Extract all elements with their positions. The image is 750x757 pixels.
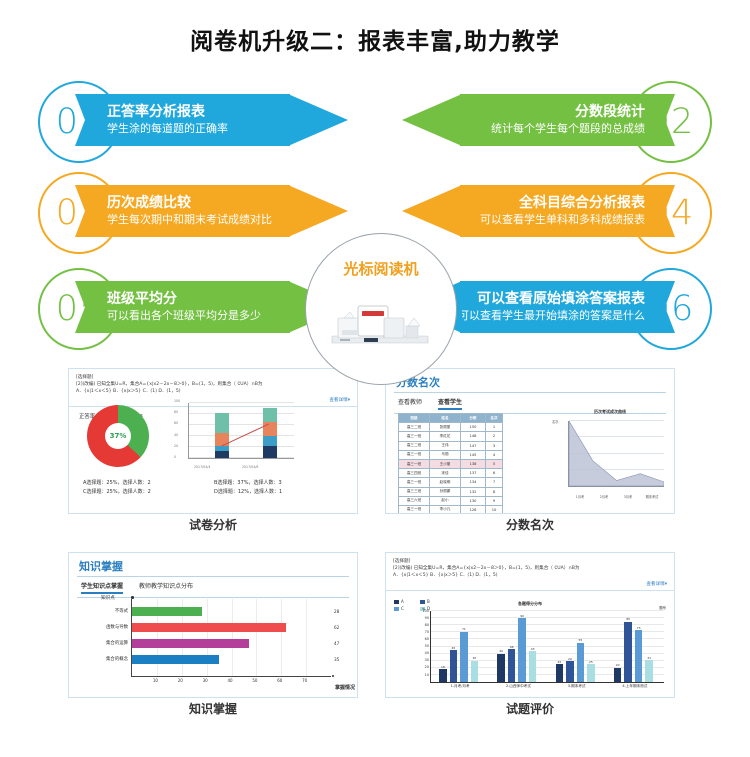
x-tick-label: 70: [302, 678, 307, 683]
table-cell: 赵晓明: [430, 478, 461, 487]
curve-chart-title: 历次考试成次曲线: [552, 409, 668, 415]
bar-value-label: 25: [558, 660, 562, 664]
score-rank-curve: 历次考试成次曲线 1月考2月考3月考期末考试名次: [552, 409, 668, 501]
mini-chart-axes: [188, 403, 294, 459]
table-cell: 高三六班: [399, 496, 430, 505]
y-tick-label: 20: [174, 444, 178, 448]
bar-value-label: 29: [568, 657, 572, 661]
table-cell: 2: [486, 432, 503, 441]
table-cell: 7: [486, 478, 503, 487]
item-arrow-02: [402, 94, 462, 146]
table-cell: 147: [461, 441, 486, 450]
bar: 73: [635, 630, 643, 682]
item-subtitle-06: 可以查看学生最开始填涂的答案是什么: [458, 309, 645, 322]
bar: 20: [614, 668, 622, 682]
table-cell: 10: [486, 505, 503, 514]
y-tick-label: 70: [425, 631, 429, 634]
table-cell: 高三一班: [399, 450, 430, 459]
panel-caption-paper-analysis: 试卷分析: [68, 516, 358, 533]
table-cell: 高三一班: [399, 478, 430, 487]
bar-value-label: 62: [334, 623, 339, 632]
x-tick-label: 3.期末考试: [568, 684, 586, 689]
option-c-stat: C选择题：25%，选择人数：2: [83, 488, 214, 497]
tab-view-student[interactable]: 查看学生: [438, 397, 462, 410]
y-tick-label: 60: [174, 421, 178, 425]
table-cell: 李红花: [430, 432, 461, 441]
panel-caption-score-rank: 分数名次: [385, 516, 675, 533]
item-title-04: 全科目综合分析报表: [480, 195, 645, 211]
tab-view-teacher[interactable]: 查看教师: [398, 397, 422, 410]
table-cell: 9: [486, 496, 503, 505]
question-line-2: A．{x|1＜x＜5} B．{x|x＞5} C．(1) D．(1，5): [76, 388, 350, 395]
bar-row: 不等式28: [132, 607, 331, 616]
y-tick-label: 30: [425, 659, 429, 662]
bar: 43: [529, 651, 537, 682]
bar: 71: [460, 632, 468, 682]
x-tick-label: 30: [203, 678, 208, 683]
bar: 30: [471, 661, 479, 682]
score-rank-title: 分数名次: [386, 369, 674, 392]
item-arrow-01: [288, 94, 348, 146]
correct-rate-donut: 37%: [87, 405, 149, 467]
panel-caption-knowledge: 知识掌握: [68, 700, 358, 717]
bar-value-label: 40: [499, 649, 503, 653]
table-row[interactable]: 高三一班李小凡12810: [399, 505, 503, 514]
bar: 31: [645, 660, 653, 682]
y-tick-label: 100: [174, 399, 180, 403]
y-tick-label: 20: [425, 666, 429, 669]
item-subtitle-01: 学生涂的每道题的正确率: [107, 122, 228, 135]
item-subtitle-03: 学生每次期中和期末考试成绩对比: [107, 213, 272, 226]
bar-value-label: 85: [626, 617, 630, 621]
paper-analysis-stacked-bar: 0204060801002017/04/42017/04/6: [174, 403, 294, 469]
bar-value-label: 90: [520, 614, 524, 618]
y-axis-label: 名次: [552, 419, 558, 424]
table-cell: 8: [486, 487, 503, 496]
score-rank-table[interactable]: 班级姓名分数名次高三二班张丽丽1501高三一班李红花1482高三二班王伟1473…: [398, 413, 503, 514]
bar-value-label: 25: [589, 660, 593, 664]
x-tick-label: 期末考试: [646, 494, 659, 499]
x-tick-label: 2.山西师中考试: [506, 684, 531, 689]
bar: 25: [556, 664, 564, 682]
bar-value-label: 73: [637, 626, 641, 630]
bar: 25: [587, 664, 595, 682]
y-tick-label: 40: [425, 652, 429, 655]
item-banner-01[interactable]: 正答率分析报表 学生涂的每道题的正确率: [75, 94, 290, 146]
option-b-stat: B选择题：37%，选择人数：3: [214, 479, 345, 488]
y-tick-label: 50: [425, 645, 429, 648]
bar: 40: [497, 654, 505, 682]
y-tick-label: 10: [425, 674, 429, 677]
y-tick-label: 40: [174, 433, 178, 437]
x-tick-label: 1.月考/月考: [451, 684, 470, 689]
table-row[interactable]: 高三四班宋佳1376: [399, 469, 503, 478]
question-line-1: [2](改编) 已知全集U=R，集合A={x|x2－2x－8＞0}，B=(1，5…: [393, 565, 667, 572]
table-cell: 高三一班: [399, 459, 430, 468]
table-cell: 137: [461, 469, 486, 478]
item-title-03: 历次成绩比较: [107, 195, 272, 211]
bar-value-label: 30: [472, 656, 476, 660]
bar-row: 集合的概念35: [132, 655, 331, 664]
table-header-cell: 名次: [486, 414, 503, 423]
bar-value-label: 71: [462, 627, 466, 631]
bar-value-label: 20: [616, 663, 620, 667]
bar-category-label: 集合的运算: [106, 639, 128, 648]
table-cell: 128: [461, 505, 486, 514]
chart-title: 各题得分分布: [386, 601, 674, 607]
table-row[interactable]: 高三六班赵小1309: [399, 496, 503, 505]
bar-value-label: 43: [531, 647, 535, 651]
table-cell: 李小凡: [430, 505, 461, 514]
table-cell: 5: [486, 459, 503, 468]
x-tick-label: 2月考: [600, 494, 608, 499]
trend-line: [189, 403, 294, 458]
table-cell: 145: [461, 450, 486, 459]
bar: 28: [132, 607, 202, 616]
table-cell: 6: [486, 469, 503, 478]
question-header: [选择题] [2](改编) 已知全集U=R，集合A={x|x2－2x－8＞0}，…: [386, 553, 674, 591]
bar-plot-area: 10203040506070不等式28函数与导数62集合的运算47集合的概念35: [131, 599, 331, 677]
table-header-cell: 姓名: [430, 414, 461, 423]
x-tick-label: 20: [178, 678, 183, 683]
table-row[interactable]: 高三一班王小丽1385: [399, 459, 503, 468]
item-title-05: 班级平均分: [107, 291, 261, 307]
bar-group: 404690432.山西师中考试: [489, 611, 547, 682]
table-cell: 马丽: [430, 450, 461, 459]
curve-plot: [568, 421, 664, 487]
bar-value-label: 31: [647, 656, 651, 660]
x-tick-label: 50: [252, 678, 257, 683]
chart-y-axis-label: %: [422, 607, 425, 611]
table-cell: 4: [486, 450, 503, 459]
x-tick-label: 3月考: [624, 494, 632, 499]
bar: 47: [132, 639, 249, 648]
chart-x-axis-label: 掌握情况: [335, 684, 355, 691]
table-header-cell: 分数: [461, 414, 486, 423]
option-d-stat: D选择题：12%，选择人数：1: [214, 488, 345, 497]
table-cell: 王小丽: [430, 459, 461, 468]
table-header-cell: 班级: [399, 414, 430, 423]
table-cell: 150: [461, 423, 486, 432]
item-title-06: 可以查看原始填涂答案报表: [458, 291, 645, 307]
table-cell: 138: [461, 459, 486, 468]
table-cell: 赵小: [430, 496, 461, 505]
y-tick-label: 0: [174, 455, 176, 459]
y-tick-label: 90: [425, 617, 429, 620]
table-row[interactable]: 高三三班孙丽娜1328: [399, 487, 503, 496]
table-cell: 宋佳: [430, 469, 461, 478]
bar-value-label: 28: [334, 607, 339, 616]
item-arrow-04: [402, 185, 462, 237]
bar: 62: [132, 623, 286, 632]
bar: 35: [132, 655, 219, 664]
bar-category-label: 集合的概念: [106, 655, 128, 664]
table-cell: 王伟: [430, 441, 461, 450]
bar-group: 184571301.月考/月考: [431, 611, 489, 682]
panel-score-rank[interactable]: 分数名次 查看教师 查看学生 班级姓名分数名次高三二班张丽丽1501高三一班李红…: [385, 368, 675, 533]
table-cell: 130: [461, 496, 486, 505]
bar: 18: [439, 669, 447, 682]
panel-knowledge-mastery[interactable]: 知识掌握 学生知识点掌握 教师教学知识点分布 知识点 1020304050607…: [68, 552, 358, 717]
bar-value-label: 46: [510, 645, 514, 649]
screenshot-gallery: [选择题] [2](改编) 已知全集U=R，集合A={x|x2－2x－8＞0}，…: [0, 362, 750, 752]
x-tick-label: 2017/04/6: [242, 465, 258, 469]
scanner-device-icon: [324, 296, 438, 352]
item-banner-04[interactable]: 全科目综合分析报表 可以查看学生单科和多科成绩报表: [460, 185, 675, 237]
table-cell: 132: [461, 487, 486, 496]
table-cell: 高三二班: [399, 441, 430, 450]
page-title: 阅卷机升级二：报表丰富,助力教学: [0, 22, 750, 56]
chart-y-axis-label: 知识点: [101, 595, 115, 601]
bar-category-label: 不等式: [115, 607, 128, 616]
bar: 46: [508, 649, 516, 682]
table-cell: 高三一班: [399, 505, 430, 514]
y-tick-label: 80: [425, 624, 429, 627]
bar-value-label: 47: [334, 639, 339, 648]
table-row[interactable]: 高三一班马丽1454: [399, 450, 503, 459]
area-series: [569, 421, 664, 486]
donut-center-label: 37%: [105, 423, 131, 449]
panel-question-eval[interactable]: [选择题] [2](改编) 已知全集U=R，集合A={x|x2－2x－8＞0}，…: [385, 552, 675, 717]
item-arrow-03: [288, 185, 348, 237]
question-line-1: [2](改编) 已知全集U=R，集合A={x|x2－2x－8＞0}，B=(1，5…: [76, 381, 350, 388]
view-detail-link[interactable]: 查看详情▾: [393, 579, 667, 587]
item-banner-03[interactable]: 历次成绩比较 学生每次期中和期末考试成绩对比: [75, 185, 290, 237]
bar-value-label: 45: [451, 646, 455, 650]
legend-swatch: [394, 607, 399, 611]
center-hub: 光标阅读机: [305, 233, 457, 385]
question-eval-grouped-bar: ABCD 各题得分分布 1020304050607080901001845713…: [386, 599, 674, 698]
bar-value-label: 18: [441, 665, 445, 669]
infographic-page: 阅卷机升级二：报表丰富,助力教学 01 正答率分析报表 学生涂的每道题的正确率 …: [0, 0, 750, 757]
item-banner-02[interactable]: 分数段统计 统计每个学生每个题段的总成绩: [460, 94, 675, 146]
item-subtitle-05: 可以看出各个班级平均分是多少: [107, 309, 261, 322]
infographic-row-1: 01 正答率分析报表 学生涂的每道题的正确率 02 分数段统计 统计每个学生每个…: [0, 81, 750, 159]
knowledge-mastery-bar: 知识点 10203040506070不等式28函数与导数62集合的运算47集合的…: [69, 593, 357, 693]
table-row[interactable]: 高三一班李红花1482: [399, 432, 503, 441]
infographic-area: 01 正答率分析报表 学生涂的每道题的正确率 02 分数段统计 统计每个学生每个…: [0, 75, 750, 360]
axis-marker: [332, 675, 335, 678]
item-subtitle-02: 统计每个学生每个题段的总成绩: [491, 122, 645, 135]
bar-row: 函数与导数62: [132, 623, 331, 632]
bar: 85: [624, 622, 632, 682]
center-hub-label: 光标阅读机: [306, 258, 456, 279]
table-cell: 3: [486, 441, 503, 450]
table-cell: 148: [461, 432, 486, 441]
item-title-02: 分数段统计: [491, 104, 645, 120]
table-cell: 高三三班: [399, 487, 430, 496]
table-header-row: 班级姓名分数名次: [399, 414, 503, 423]
bar: 45: [450, 650, 458, 682]
option-distribution-list: A选择题：25%，选择人数：2 B选择题：37%，选择人数：3 C选择题：25%…: [83, 479, 345, 497]
question-tag: [选择题]: [76, 374, 350, 381]
panel-caption-question-eval: 试题评价: [385, 700, 675, 717]
table-row[interactable]: 高三二班张丽丽1501: [399, 423, 503, 432]
x-tick-label: 40: [228, 678, 233, 683]
x-tick-label: 2017/04/4: [194, 465, 210, 469]
panel-paper-analysis[interactable]: [选择题] [2](改编) 已知全集U=R，集合A={x|x2－2x－8＞0}，…: [68, 368, 358, 533]
table-cell: 134: [461, 478, 486, 487]
table-row[interactable]: 高三二班王伟1473: [399, 441, 503, 450]
item-banner-06[interactable]: 可以查看原始填涂答案报表 可以查看学生最开始填涂的答案是什么: [460, 281, 675, 333]
option-a-stat: A选择题：25%，选择人数：2: [83, 479, 214, 488]
bar-group: 252955253.期末考试: [548, 611, 606, 682]
item-title-01: 正答率分析报表: [107, 104, 228, 120]
table-cell: 高三一班: [399, 432, 430, 441]
bar: 29: [566, 661, 574, 682]
bar-group: 208573314.上年期末测试: [606, 611, 664, 682]
bar-category-label: 函数与导数: [106, 623, 128, 632]
bar: 90: [518, 618, 526, 682]
table-cell: 1: [486, 423, 503, 432]
bar-plot-area: 102030405060708090100184571301.月考/月考4046…: [430, 611, 664, 683]
table-row[interactable]: 高三一班赵晓明1347: [399, 478, 503, 487]
item-subtitle-04: 可以查看学生单科和多科成绩报表: [480, 213, 645, 226]
y-tick-label: 60: [425, 638, 429, 641]
table-cell: 张丽丽: [430, 423, 461, 432]
question-line-2: A．{x|1＜x＜5} B．{x|x＞5} C．(1) D．(1，5): [393, 572, 667, 579]
question-tag: [选择题]: [393, 558, 667, 565]
bar-value-label: 55: [578, 638, 582, 642]
bar-value-label: 35: [334, 655, 339, 664]
table-cell: 高三二班: [399, 423, 430, 432]
x-tick-label: 4.上年期末测试: [622, 684, 647, 689]
y-tick-label: 80: [174, 410, 178, 414]
x-tick-label: 60: [277, 678, 282, 683]
bar-row: 集合的运算47: [132, 639, 331, 648]
knowledge-title: 知识掌握: [69, 553, 357, 576]
bar: 55: [577, 643, 585, 682]
axis-marker: [131, 596, 134, 599]
item-banner-05[interactable]: 班级平均分 可以看出各个班级平均分是多少: [75, 281, 290, 333]
x-tick-label: 10: [153, 678, 158, 683]
x-tick-label: 1月考: [576, 494, 584, 499]
chart-x-axis-label: 题号: [659, 605, 666, 610]
table-cell: 孙丽娜: [430, 487, 461, 496]
table-cell: 高三四班: [399, 469, 430, 478]
